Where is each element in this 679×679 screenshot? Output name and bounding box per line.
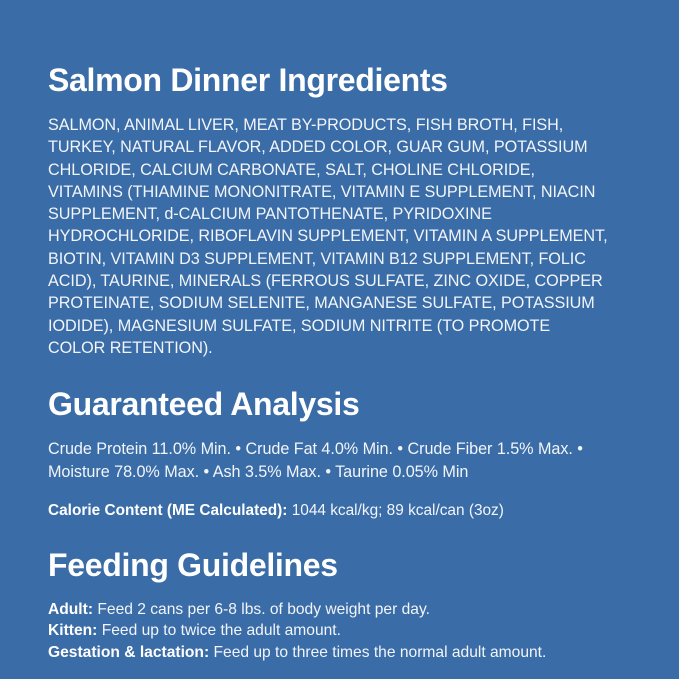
product-info-panel: Salmon Dinner Ingredients SALMON, ANIMAL…	[0, 0, 679, 679]
feeding-guidelines-heading: Feeding Guidelines	[48, 547, 631, 583]
ingredients-list-text: SALMON, ANIMAL LIVER, MEAT BY-PRODUCTS, …	[48, 114, 610, 359]
ingredients-section-header: Salmon Dinner Ingredients	[48, 0, 631, 98]
guaranteed-analysis-section-body: Crude Protein 11.0% Min. • Crude Fat 4.0…	[48, 422, 631, 483]
feeding-row-label: Adult:	[48, 601, 93, 618]
feeding-guidelines-section-header: Feeding Guidelines	[48, 521, 631, 583]
ingredients-heading: Salmon Dinner Ingredients	[48, 62, 631, 98]
calorie-content-line: Calorie Content (ME Calculated): 1044 kc…	[48, 500, 631, 521]
guaranteed-analysis-line-2: Moisture 78.0% Max. • Ash 3.5% Max. • Ta…	[48, 461, 628, 483]
feeding-guidelines-section-body: Adult: Feed 2 cans per 6-8 lbs. of body …	[48, 583, 631, 664]
calorie-content-label: Calorie Content (ME Calculated):	[48, 502, 287, 519]
feeding-row-label: Kitten:	[48, 622, 97, 639]
feeding-row-text: Feed 2 cans per 6-8 lbs. of body weight …	[97, 601, 430, 618]
feeding-row-text: Feed up to three times the normal adult …	[214, 644, 547, 661]
feeding-row: Adult: Feed 2 cans per 6-8 lbs. of body …	[48, 599, 631, 621]
guaranteed-analysis-section-header: Guaranteed Analysis	[48, 359, 631, 422]
ingredients-section-body: SALMON, ANIMAL LIVER, MEAT BY-PRODUCTS, …	[48, 98, 631, 359]
guaranteed-analysis-heading: Guaranteed Analysis	[48, 386, 631, 422]
guaranteed-analysis-line-1: Crude Protein 11.0% Min. • Crude Fat 4.0…	[48, 438, 628, 460]
feeding-row-text: Feed up to twice the adult amount.	[102, 622, 341, 639]
feeding-row: Kitten: Feed up to twice the adult amoun…	[48, 620, 631, 642]
calorie-content-value: 1044 kcal/kg; 89 kcal/can (3oz)	[292, 502, 504, 519]
calorie-content-row: Calorie Content (ME Calculated): 1044 kc…	[48, 483, 631, 521]
feeding-row: Gestation & lactation: Feed up to three …	[48, 642, 631, 664]
feeding-row-label: Gestation & lactation:	[48, 644, 209, 661]
